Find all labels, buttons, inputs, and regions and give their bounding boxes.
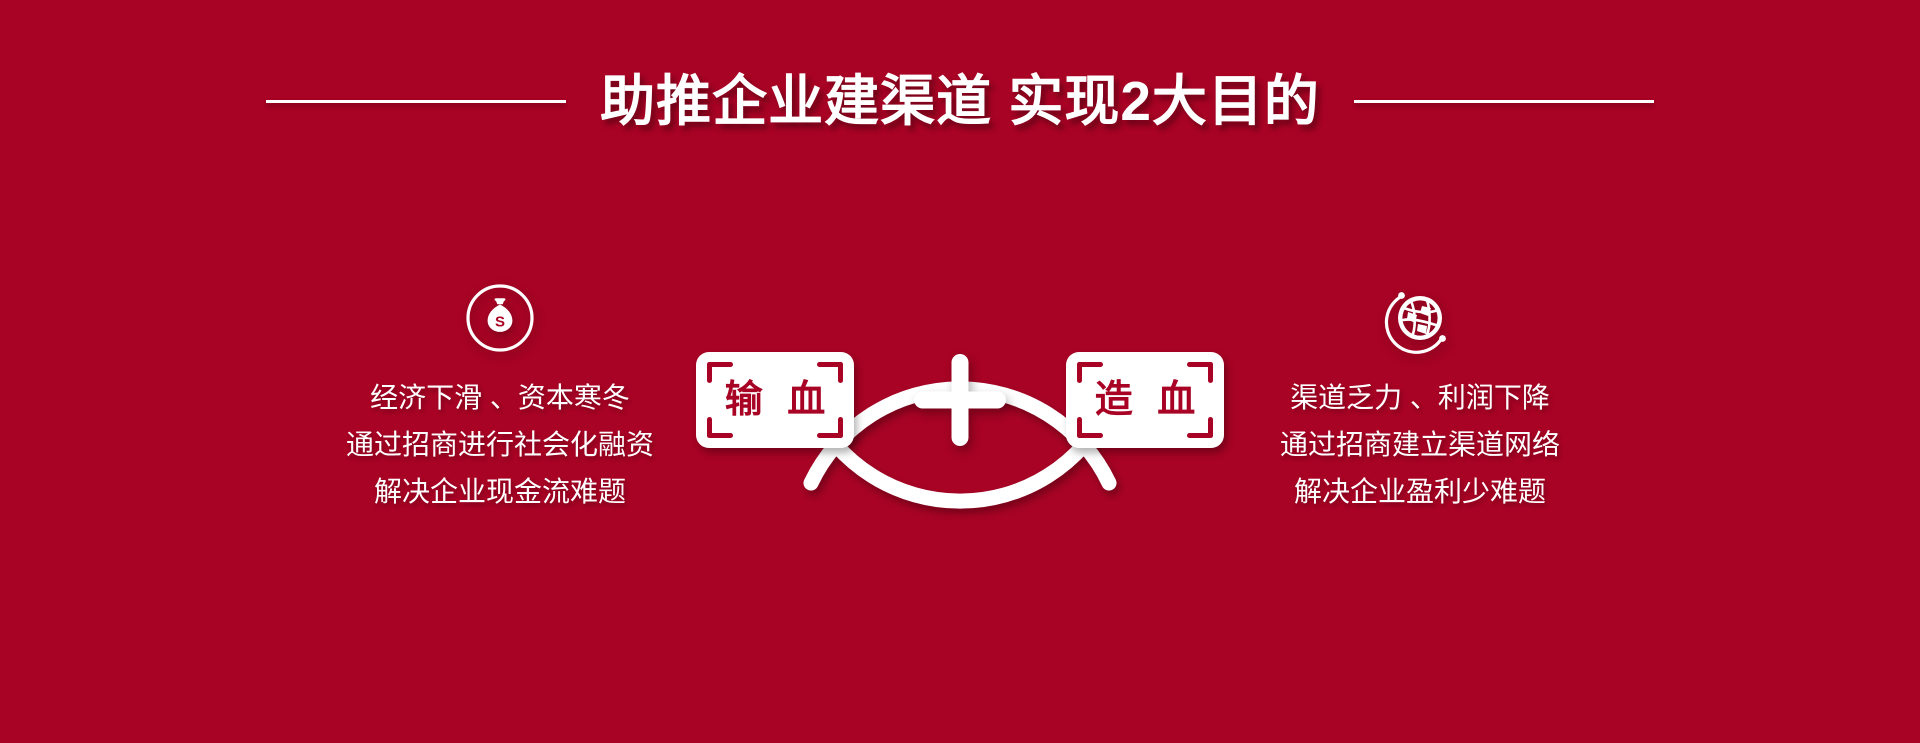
badge-generation-label: 造 血	[1088, 381, 1203, 419]
column-left-lines: 经济下滑 、资本寒冬 通过招商进行社会化融资 解决企业现金流难题	[346, 378, 654, 511]
page-title-row: 助推企业建渠道 实现2大目的	[0, 56, 1920, 146]
center-badge-row: 输 血 造 血	[696, 352, 1224, 448]
title-rule-right	[1354, 100, 1654, 103]
column-right-lines: 渠道乏力 、利润下降 通过招商建立渠道网络 解决企业盈利少难题	[1280, 378, 1560, 511]
column-left-line-1: 经济下滑 、资本寒冬	[370, 378, 630, 418]
column-right-line-2: 通过招商建立渠道网络	[1280, 425, 1560, 465]
column-right-line-1: 渠道乏力 、利润下降	[1290, 378, 1550, 418]
slide-root: 助推企业建渠道 实现2大目的 输 血	[0, 0, 1920, 743]
title-rule-left	[266, 100, 566, 103]
column-left: S 经济下滑 、资本寒冬 通过招商进行社会化融资 解决企业现金流难题	[290, 282, 710, 511]
page-title: 助推企业建渠道 实现2大目的	[600, 74, 1320, 129]
column-right: 渠道乏力 、利润下降 通过招商建立渠道网络 解决企业盈利少难题	[1210, 282, 1630, 511]
money-bag-icon: S	[464, 282, 536, 354]
column-right-line-3: 解决企业盈利少难题	[1294, 472, 1546, 512]
column-left-line-2: 通过招商进行社会化融资	[346, 425, 654, 465]
svg-text:S: S	[495, 313, 505, 330]
badge-transfusion-label: 输 血	[718, 381, 833, 419]
badge-transfusion[interactable]: 输 血	[696, 352, 854, 448]
plus-icon	[912, 352, 1008, 448]
badge-generation[interactable]: 造 血	[1066, 352, 1224, 448]
globe-network-icon	[1384, 282, 1456, 354]
column-left-line-3: 解决企业现金流难题	[374, 472, 626, 512]
